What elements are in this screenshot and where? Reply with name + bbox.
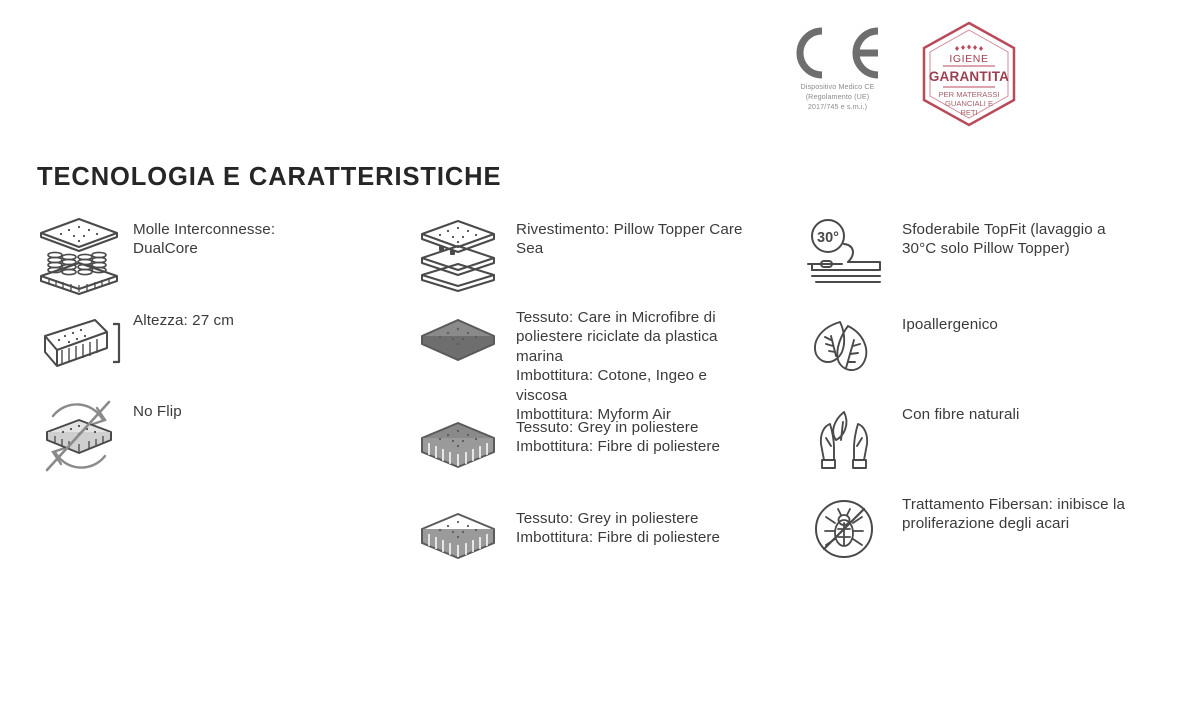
wash-temperature-label: 30°: [817, 230, 839, 246]
igiene-main-label: GARANTITA: [929, 69, 1009, 84]
feature-item: Con fibre naturali: [800, 403, 1019, 475]
two-leaves-icon: [800, 313, 888, 385]
mattress-height-icon: [33, 309, 125, 381]
mattress-flat-filled-icon: [414, 306, 502, 378]
feature-item: Tessuto: Grey in poliestere Imbottitura:…: [414, 416, 720, 488]
ce-certification: Dispositivo Medico CE (Regolamento (UE) …: [780, 28, 895, 112]
page-title: TECNOLOGIA E CARATTERISTICHE: [37, 163, 501, 192]
igiene-sub-label-1: PER MATERASSI: [938, 90, 999, 99]
hexagon-badge-icon: IGIENE GARANTITA PER MATERASSI GUANCIALI…: [921, 21, 1017, 127]
ce-caption: Dispositivo Medico CE (Regolamento (UE) …: [780, 82, 895, 112]
pillow-topper-layers-icon: [414, 218, 502, 290]
feature-label: Trattamento Fibersan: inibisce la prolif…: [902, 493, 1125, 534]
feature-item: Rivestimento: Pillow Topper Care Sea: [414, 218, 743, 290]
feature-item: 30° Sfoderabile TopFit (lavaggio a 30°C …: [800, 218, 1106, 290]
feature-label: Con fibre naturali: [902, 403, 1019, 424]
feature-label: Tessuto: Grey in poliestere Imbottitura:…: [516, 507, 720, 548]
hands-leaf-icon: [800, 403, 888, 475]
feature-label: Sfoderabile TopFit (lavaggio a 30°C solo…: [902, 218, 1106, 259]
feature-item: Ipoallergenico: [800, 313, 998, 385]
feature-label: No Flip: [133, 400, 182, 421]
no-dust-mite-icon: [800, 493, 888, 565]
feature-label: Tessuto: Grey in poliestere Imbottitura:…: [516, 416, 720, 457]
igiene-top-label: IGIENE: [949, 53, 988, 65]
igiene-sub-label-2: GUANCIALI E: [945, 99, 993, 108]
feature-label: Ipoallergenico: [902, 313, 998, 334]
feature-item: Tessuto: Care in Microfibre di poliester…: [414, 306, 718, 425]
mattress-block-outline-icon: [414, 507, 502, 579]
certification-strip: Dispositivo Medico CE (Regolamento (UE) …: [0, 18, 1199, 128]
feature-item: Molle Interconnesse: DualCore: [33, 218, 275, 290]
feature-label: Molle Interconnesse: DualCore: [133, 218, 275, 259]
feature-item: Tessuto: Grey in poliestere Imbottitura:…: [414, 507, 720, 579]
mattress-block-filled-icon: [414, 416, 502, 488]
feature-label: Altezza: 27 cm: [133, 309, 234, 330]
feature-label: Tessuto: Care in Microfibre di poliester…: [516, 306, 718, 425]
mattress-springs-icon: [33, 218, 125, 290]
feature-item: Altezza: 27 cm: [33, 309, 234, 381]
no-flip-icon: [33, 400, 125, 472]
igiene-garantita-badge: IGIENE GARANTITA PER MATERASSI GUANCIALI…: [921, 21, 1017, 127]
wash-30-degrees-icon: 30°: [800, 218, 888, 290]
feature-label: Rivestimento: Pillow Topper Care Sea: [516, 218, 743, 259]
ce-mark-icon: [792, 28, 884, 78]
feature-item: No Flip: [33, 400, 182, 472]
igiene-sub-label-3: RETI: [960, 108, 977, 117]
feature-item: Trattamento Fibersan: inibisce la prolif…: [800, 493, 1125, 565]
